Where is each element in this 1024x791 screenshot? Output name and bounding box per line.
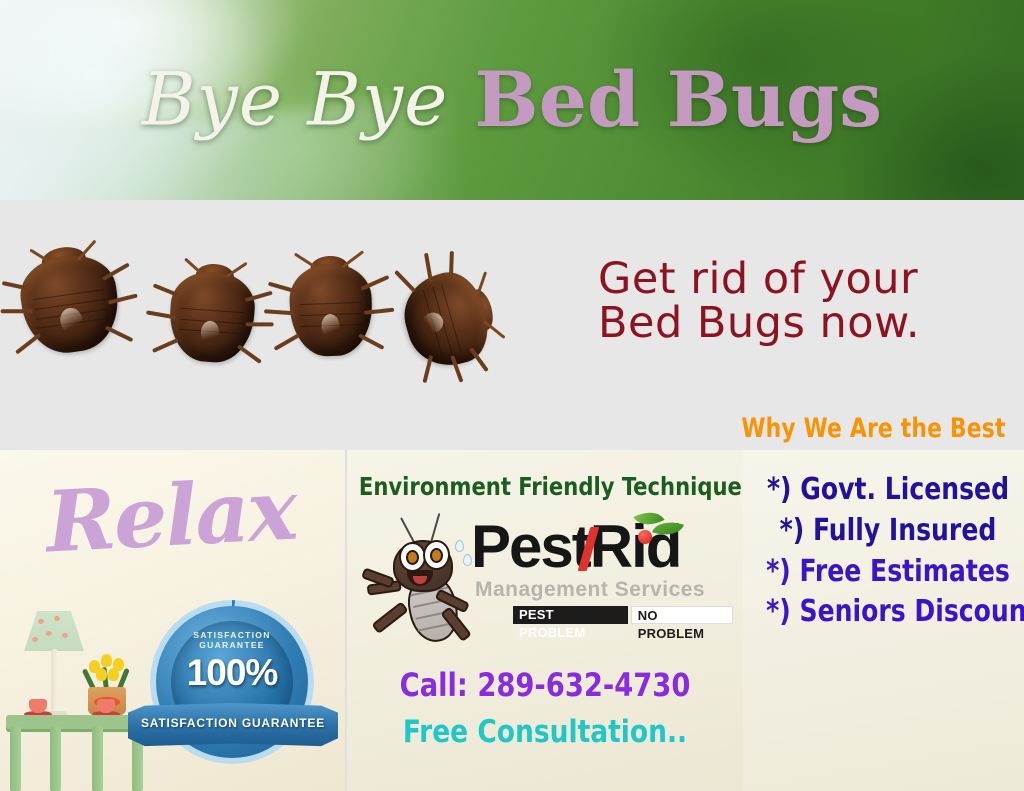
bedbug-icon bbox=[288, 263, 373, 358]
bedbug-photo-group bbox=[0, 218, 530, 398]
benefits-list: *) Govt. Licensed *) Fully Insured *) Fr… bbox=[757, 470, 1019, 633]
bedbug-icon bbox=[167, 269, 257, 365]
right-panel: *) Govt. Licensed *) Fully Insured *) Fr… bbox=[743, 450, 1024, 791]
midband: Get rid of your Bed Bugs now. Why We Are… bbox=[0, 200, 1024, 450]
list-item: *) Seniors Discount bbox=[766, 592, 1010, 633]
badge-ribbon: SATISFACTION GUARANTEE bbox=[128, 703, 338, 747]
table-leg bbox=[10, 727, 21, 791]
logo-subtitle: Management Services bbox=[475, 578, 705, 602]
hero-banner: Bye ByeBed Bugs bbox=[0, 0, 1024, 200]
badge-ribbon-text: SATISFACTION GUARANTEE bbox=[128, 716, 338, 730]
table-leg bbox=[92, 727, 103, 791]
list-item: *) Free Estimates bbox=[766, 552, 1010, 593]
logo-name-part1: Pest bbox=[471, 513, 590, 580]
teacup-icon bbox=[97, 699, 115, 713]
tag-no-problem: NO PROBLEM bbox=[631, 606, 733, 624]
hero-title: Bye ByeBed Bugs bbox=[142, 62, 882, 138]
tag-pest-problem: PEST PROBLEM bbox=[513, 606, 628, 624]
flyer-page: Bye ByeBed Bugs bbox=[0, 0, 1024, 791]
tulip-icon bbox=[101, 654, 112, 667]
table-leg bbox=[50, 727, 61, 791]
badge-percent: 100% bbox=[171, 652, 293, 694]
eco-heading: Environment Friendly Techniques bbox=[359, 472, 731, 501]
headline-line-1: Get rid of your bbox=[598, 258, 920, 302]
logo-name-part2: R bbox=[590, 513, 631, 580]
relax-panel: Relax bbox=[0, 450, 347, 791]
call-line[interactable]: Call: 289-632-4730 bbox=[357, 666, 733, 704]
phone-number[interactable]: 289-632-4730 bbox=[477, 666, 690, 704]
center-panel: Environment Friendly Techniques bbox=[347, 450, 743, 791]
list-item: *) Fully Insured bbox=[766, 511, 1010, 552]
bedbug-icon bbox=[395, 265, 497, 375]
free-consultation-line: Free Consultation.. bbox=[357, 714, 733, 750]
teacup-icon bbox=[29, 699, 47, 713]
hero-title-script: Bye Bye bbox=[142, 58, 448, 143]
pestrid-wordmark: PestRid bbox=[471, 518, 680, 575]
lamp-shade-icon bbox=[24, 611, 84, 651]
list-item: *) Govt. Licensed bbox=[766, 470, 1010, 511]
relax-word: Relax bbox=[44, 468, 298, 565]
lamp-stem-icon bbox=[51, 649, 58, 715]
why-we-are-the-best-heading: Why We Are the Best bbox=[742, 413, 1006, 444]
call-label: Call: bbox=[400, 666, 468, 704]
tulip-icon bbox=[108, 668, 119, 681]
tulip-icon bbox=[96, 668, 107, 681]
logo-tagline: PEST PROBLEM NO PROBLEM bbox=[513, 606, 733, 624]
headline-line-2: Bed Bugs now. bbox=[598, 302, 920, 346]
table-top bbox=[6, 715, 146, 729]
hero-title-bold: Bed Bugs bbox=[474, 55, 882, 144]
pestrid-logo: PestRid Management Services PEST PROBLEM… bbox=[363, 512, 733, 652]
bedbug-icon bbox=[16, 250, 124, 358]
bottom-row: Relax bbox=[0, 450, 1024, 791]
headline: Get rid of your Bed Bugs now. bbox=[598, 258, 920, 346]
satisfaction-guarantee-badge: SATISFACTION GUARANTEE 100% SATISFACTION… bbox=[128, 606, 338, 761]
